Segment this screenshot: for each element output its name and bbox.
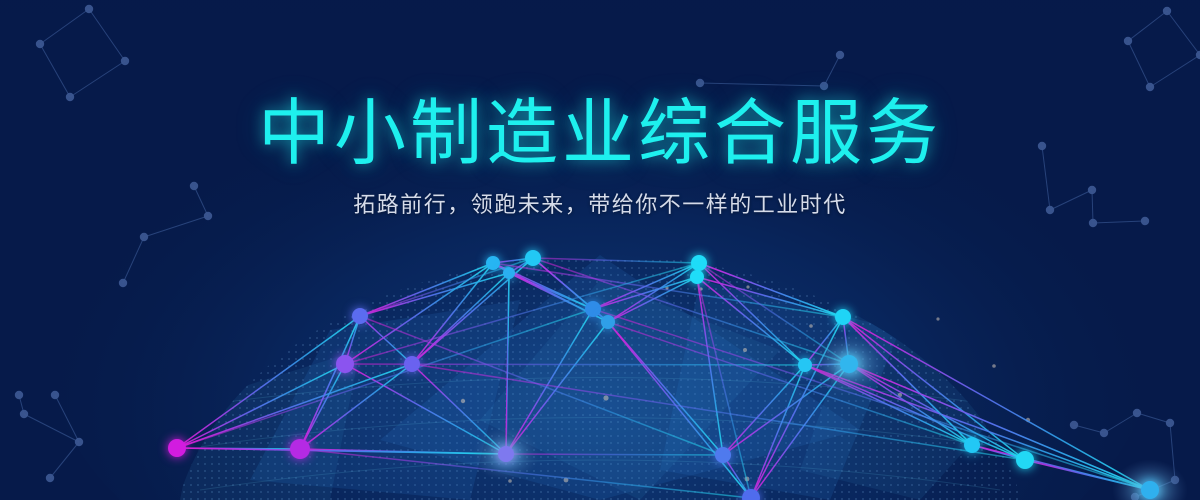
network-node-20	[1141, 481, 1159, 499]
network-node-6	[601, 315, 615, 329]
network-node-15	[290, 439, 310, 459]
network-node-7	[352, 308, 368, 324]
network-node-16	[168, 439, 186, 457]
network-node-8	[336, 355, 354, 373]
network-node-18	[964, 437, 980, 453]
network-node-5	[585, 301, 601, 317]
network-node-19	[1016, 451, 1034, 469]
network-node-11	[798, 358, 812, 372]
network-node-14	[715, 447, 731, 463]
network-node-13	[498, 446, 514, 462]
network-node-12	[840, 355, 858, 373]
network-node-3	[691, 255, 707, 271]
network-node-0	[525, 250, 541, 266]
hero-banner: 中小制造业综合服务 拓路前行，领跑未来，带给你不一样的工业时代	[0, 0, 1200, 500]
network-node-2	[503, 267, 515, 279]
network-node-10	[835, 309, 851, 325]
network-dome-graphic	[0, 0, 1200, 500]
network-node-9	[404, 356, 420, 372]
network-node-1	[486, 256, 500, 270]
network-node-4	[690, 270, 704, 284]
